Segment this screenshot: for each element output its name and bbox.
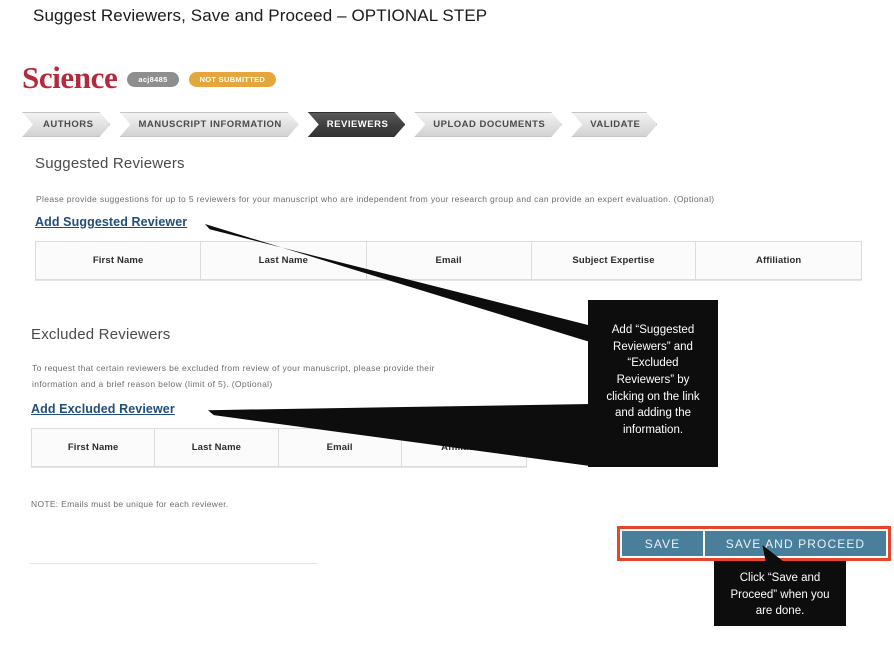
add-suggested-reviewer-link[interactable]: Add Suggested Reviewer (35, 215, 187, 229)
page-title: Suggest Reviewers, Save and Proceed – OP… (33, 6, 487, 26)
save-and-proceed-button[interactable]: SAVE AND PROCEED (705, 531, 886, 556)
manuscript-id-badge: acj8485 (127, 72, 178, 88)
column-first-name: First Name (32, 429, 155, 467)
add-excluded-reviewer-link[interactable]: Add Excluded Reviewer (31, 402, 175, 416)
table-header-row: First Name Last Name Email Subject Exper… (36, 242, 862, 280)
save-button-group: SAVE SAVE AND PROCEED (622, 531, 886, 556)
step-reviewers[interactable]: REVIEWERS (308, 112, 406, 137)
excluded-reviewers-help-line2: information and a brief reason below (li… (32, 377, 542, 392)
callout-save: Click “Save and Proceed” when you are do… (714, 561, 846, 626)
save-button[interactable]: SAVE (622, 531, 703, 556)
excluded-reviewers-heading: Excluded Reviewers (31, 326, 171, 343)
callout-reviewers: Add “Suggested Reviewers” and “Excluded … (588, 300, 718, 467)
column-email: Email (366, 242, 531, 280)
breadcrumb: AUTHORS MANUSCRIPT INFORMATION REVIEWERS… (22, 112, 666, 137)
suggested-reviewers-heading: Suggested Reviewers (35, 155, 185, 172)
suggested-reviewers-table: First Name Last Name Email Subject Exper… (35, 241, 862, 280)
step-validate[interactable]: VALIDATE (571, 112, 657, 137)
status-badge: NOT SUBMITTED (189, 72, 277, 88)
column-first-name: First Name (36, 242, 201, 280)
column-last-name: Last Name (155, 429, 278, 467)
excluded-reviewers-help-line1: To request that certain reviewers be exc… (32, 361, 542, 376)
brand-header: Science acj8485 NOT SUBMITTED (22, 62, 276, 93)
step-manuscript-information[interactable]: MANUSCRIPT INFORMATION (119, 112, 298, 137)
section-divider (30, 563, 318, 564)
column-affiliation: Affiliation (696, 242, 862, 280)
unique-emails-note: NOTE: Emails must be unique for each rev… (31, 499, 229, 509)
save-buttons-highlight: SAVE SAVE AND PROCEED (617, 526, 891, 561)
step-upload-documents[interactable]: UPLOAD DOCUMENTS (414, 112, 562, 137)
science-logo: Science (22, 62, 117, 93)
step-authors[interactable]: AUTHORS (22, 112, 110, 137)
column-last-name: Last Name (201, 242, 366, 280)
column-subject-expertise: Subject Expertise (531, 242, 696, 280)
suggested-reviewers-help: Please provide suggestions for up to 5 r… (36, 192, 866, 207)
